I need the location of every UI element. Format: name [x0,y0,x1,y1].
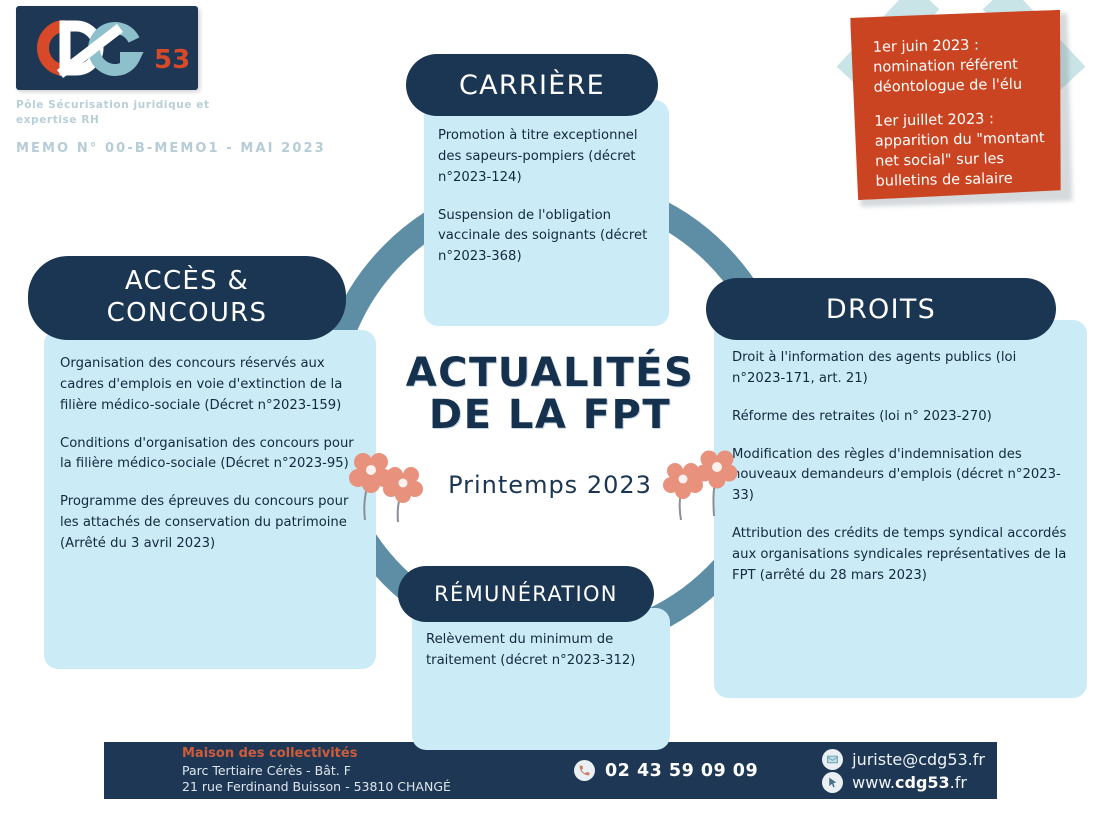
footer-website: www.cdg53.fr [852,773,967,792]
phone-icon [574,760,595,781]
header-block: 53 Pôle Sécurisation juridique et expert… [16,6,346,156]
footer-phone-number: 02 43 59 09 09 [605,761,758,781]
department-label: Pôle Sécurisation juridique et expertise… [16,98,226,128]
footer-address: Maison des collectivités Parc Tertiaire … [182,746,512,796]
section-card-carriere: Promotion à titre exceptionnel des sapeu… [424,100,669,326]
section-header-remuneration[interactable]: RÉMUNÉRATION [398,566,654,622]
footer-website-prefix: www. [852,773,895,792]
sticky-note: 1er juin 2023 : nomination référent déon… [838,2,1086,217]
carriere-item-2: Suspension de l'obligation vaccinale des… [438,206,655,269]
email-icon [822,749,843,770]
footer-email-row[interactable]: juriste@cdg53.fr [822,749,985,770]
footer-website-bold: cdg53 [895,773,950,792]
cursor-icon [822,772,843,793]
footer-website-suffix: .fr [950,773,967,792]
infographic-canvas: 53 Pôle Sécurisation juridique et expert… [0,0,1100,825]
droits-item-2: Réforme des retraites (loi n° 2023-270) [732,407,1069,428]
footer-bar: Maison des collectivités Parc Tertiaire … [104,742,997,799]
section-header-droits[interactable]: DROITS [706,278,1056,340]
section-title-acces-line-2: CONCOURS [107,298,268,330]
carriere-item-1: Promotion à titre exceptionnel des sapeu… [438,126,655,189]
section-header-acces-concours[interactable]: ACCÈS & CONCOURS [28,256,346,340]
footer-email: juriste@cdg53.fr [852,750,985,769]
cdg53-logo: 53 [16,6,198,90]
section-title-droits: DROITS [826,294,936,325]
section-title-carriere: CARRIÈRE [459,70,605,101]
droits-item-1: Droit à l'information des agents publics… [732,348,1069,390]
sticky-note-paper: 1er juin 2023 : nomination référent déon… [850,10,1064,200]
footer-phone[interactable]: 02 43 59 09 09 [574,760,758,781]
section-header-carriere[interactable]: CARRIÈRE [406,54,658,116]
footer-address-line-2: 21 rue Ferdinand Buisson - 53810 CHANGÉ [182,779,512,796]
footer-website-row[interactable]: www.cdg53.fr [822,772,985,793]
section-title-acces-line-1: ACCÈS & [125,266,249,298]
droits-item-4: Attribution des crédits de temps syndica… [732,524,1069,587]
footer-contacts: juriste@cdg53.fr www.cdg53.fr [822,747,985,795]
acces-item-2: Conditions d'organisation des concours p… [60,434,360,476]
svg-text:53: 53 [154,45,190,75]
section-title-remuneration: RÉMUNÉRATION [434,582,618,606]
acces-item-3: Programme des épreuves du concours pour … [60,492,360,555]
remuneration-item-1: Relèvement du minimum de traitement (déc… [426,630,656,672]
acces-item-1: Organisation des concours réservés aux c… [60,354,360,417]
sticky-note-entry-2: 1er juillet 2023 : apparition du "montan… [874,108,1046,192]
section-card-remuneration: Relèvement du minimum de traitement (déc… [412,608,670,750]
cdg53-logo-mark: 53 [16,6,198,90]
sticky-note-entry-1: 1er juin 2023 : nomination référent déon… [873,34,1044,98]
footer-address-line-1: Parc Tertiaire Cérès - Bât. F [182,763,512,780]
section-card-droits: Droit à l'information des agents publics… [714,320,1087,698]
section-card-acces-concours: Organisation des concours réservés aux c… [44,330,376,669]
droits-item-3: Modification des règles d'indemnisation … [732,445,1069,508]
